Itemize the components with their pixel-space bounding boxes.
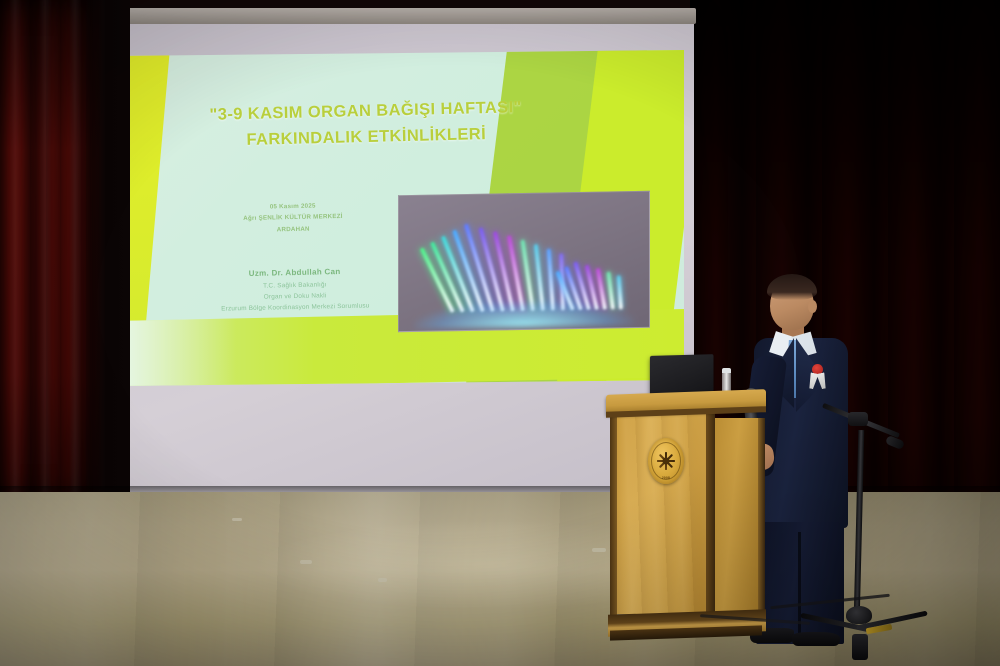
water-bottle-cap [722, 368, 731, 373]
slide-event-meta: 05 Kasım 2025 Ağrı ŞENLİK KÜLTÜR MERKEZİ… [168, 198, 419, 238]
presentation-slide: "3-9 KASIM ORGAN BAĞIŞI HAFTASI" FARKIND… [116, 50, 684, 386]
speaker-shoe-right [792, 632, 840, 646]
mic-stand-leg [852, 634, 868, 660]
floor-debris [592, 548, 606, 552]
lapel-rosette-icon [808, 364, 828, 390]
neon-glow-base [414, 299, 634, 329]
screen-roller-housing [96, 8, 696, 24]
auditorium-scene: "3-9 KASIM ORGAN BAĞIŞI HAFTASI" FARKIND… [0, 0, 1000, 666]
speaker-hair [767, 274, 817, 300]
speaker-leg-seam [798, 532, 801, 642]
floor-debris [378, 578, 387, 582]
podium-trim-middle [706, 414, 715, 614]
slide-accent-bottom-fade [116, 318, 236, 386]
podium-trim-right [758, 418, 765, 614]
speaker-ear [808, 300, 817, 313]
rosette-ribbon-right [816, 372, 827, 389]
slide-title-line1: "3-9 KASIM ORGAN BAĞIŞI HAFTASI" [209, 98, 522, 124]
university-emblem-icon: 2008 [648, 438, 684, 484]
podium-side-panel [714, 418, 762, 614]
podium: 2008 [606, 392, 766, 640]
podium-trim-left [610, 414, 617, 616]
mic-stand-base-hub [846, 606, 872, 624]
emblem-year: 2008 [648, 476, 684, 480]
emblem-center [663, 458, 670, 465]
mic-stand-clamp [848, 412, 868, 426]
floor-debris [300, 560, 312, 564]
slide-title: "3-9 KASIM ORGAN BAĞIŞI HAFTASI" FARKIND… [145, 94, 586, 156]
curtain-left-shadow-gap [86, 0, 130, 500]
slide-neon-image [398, 191, 650, 332]
floor-debris [232, 518, 242, 521]
